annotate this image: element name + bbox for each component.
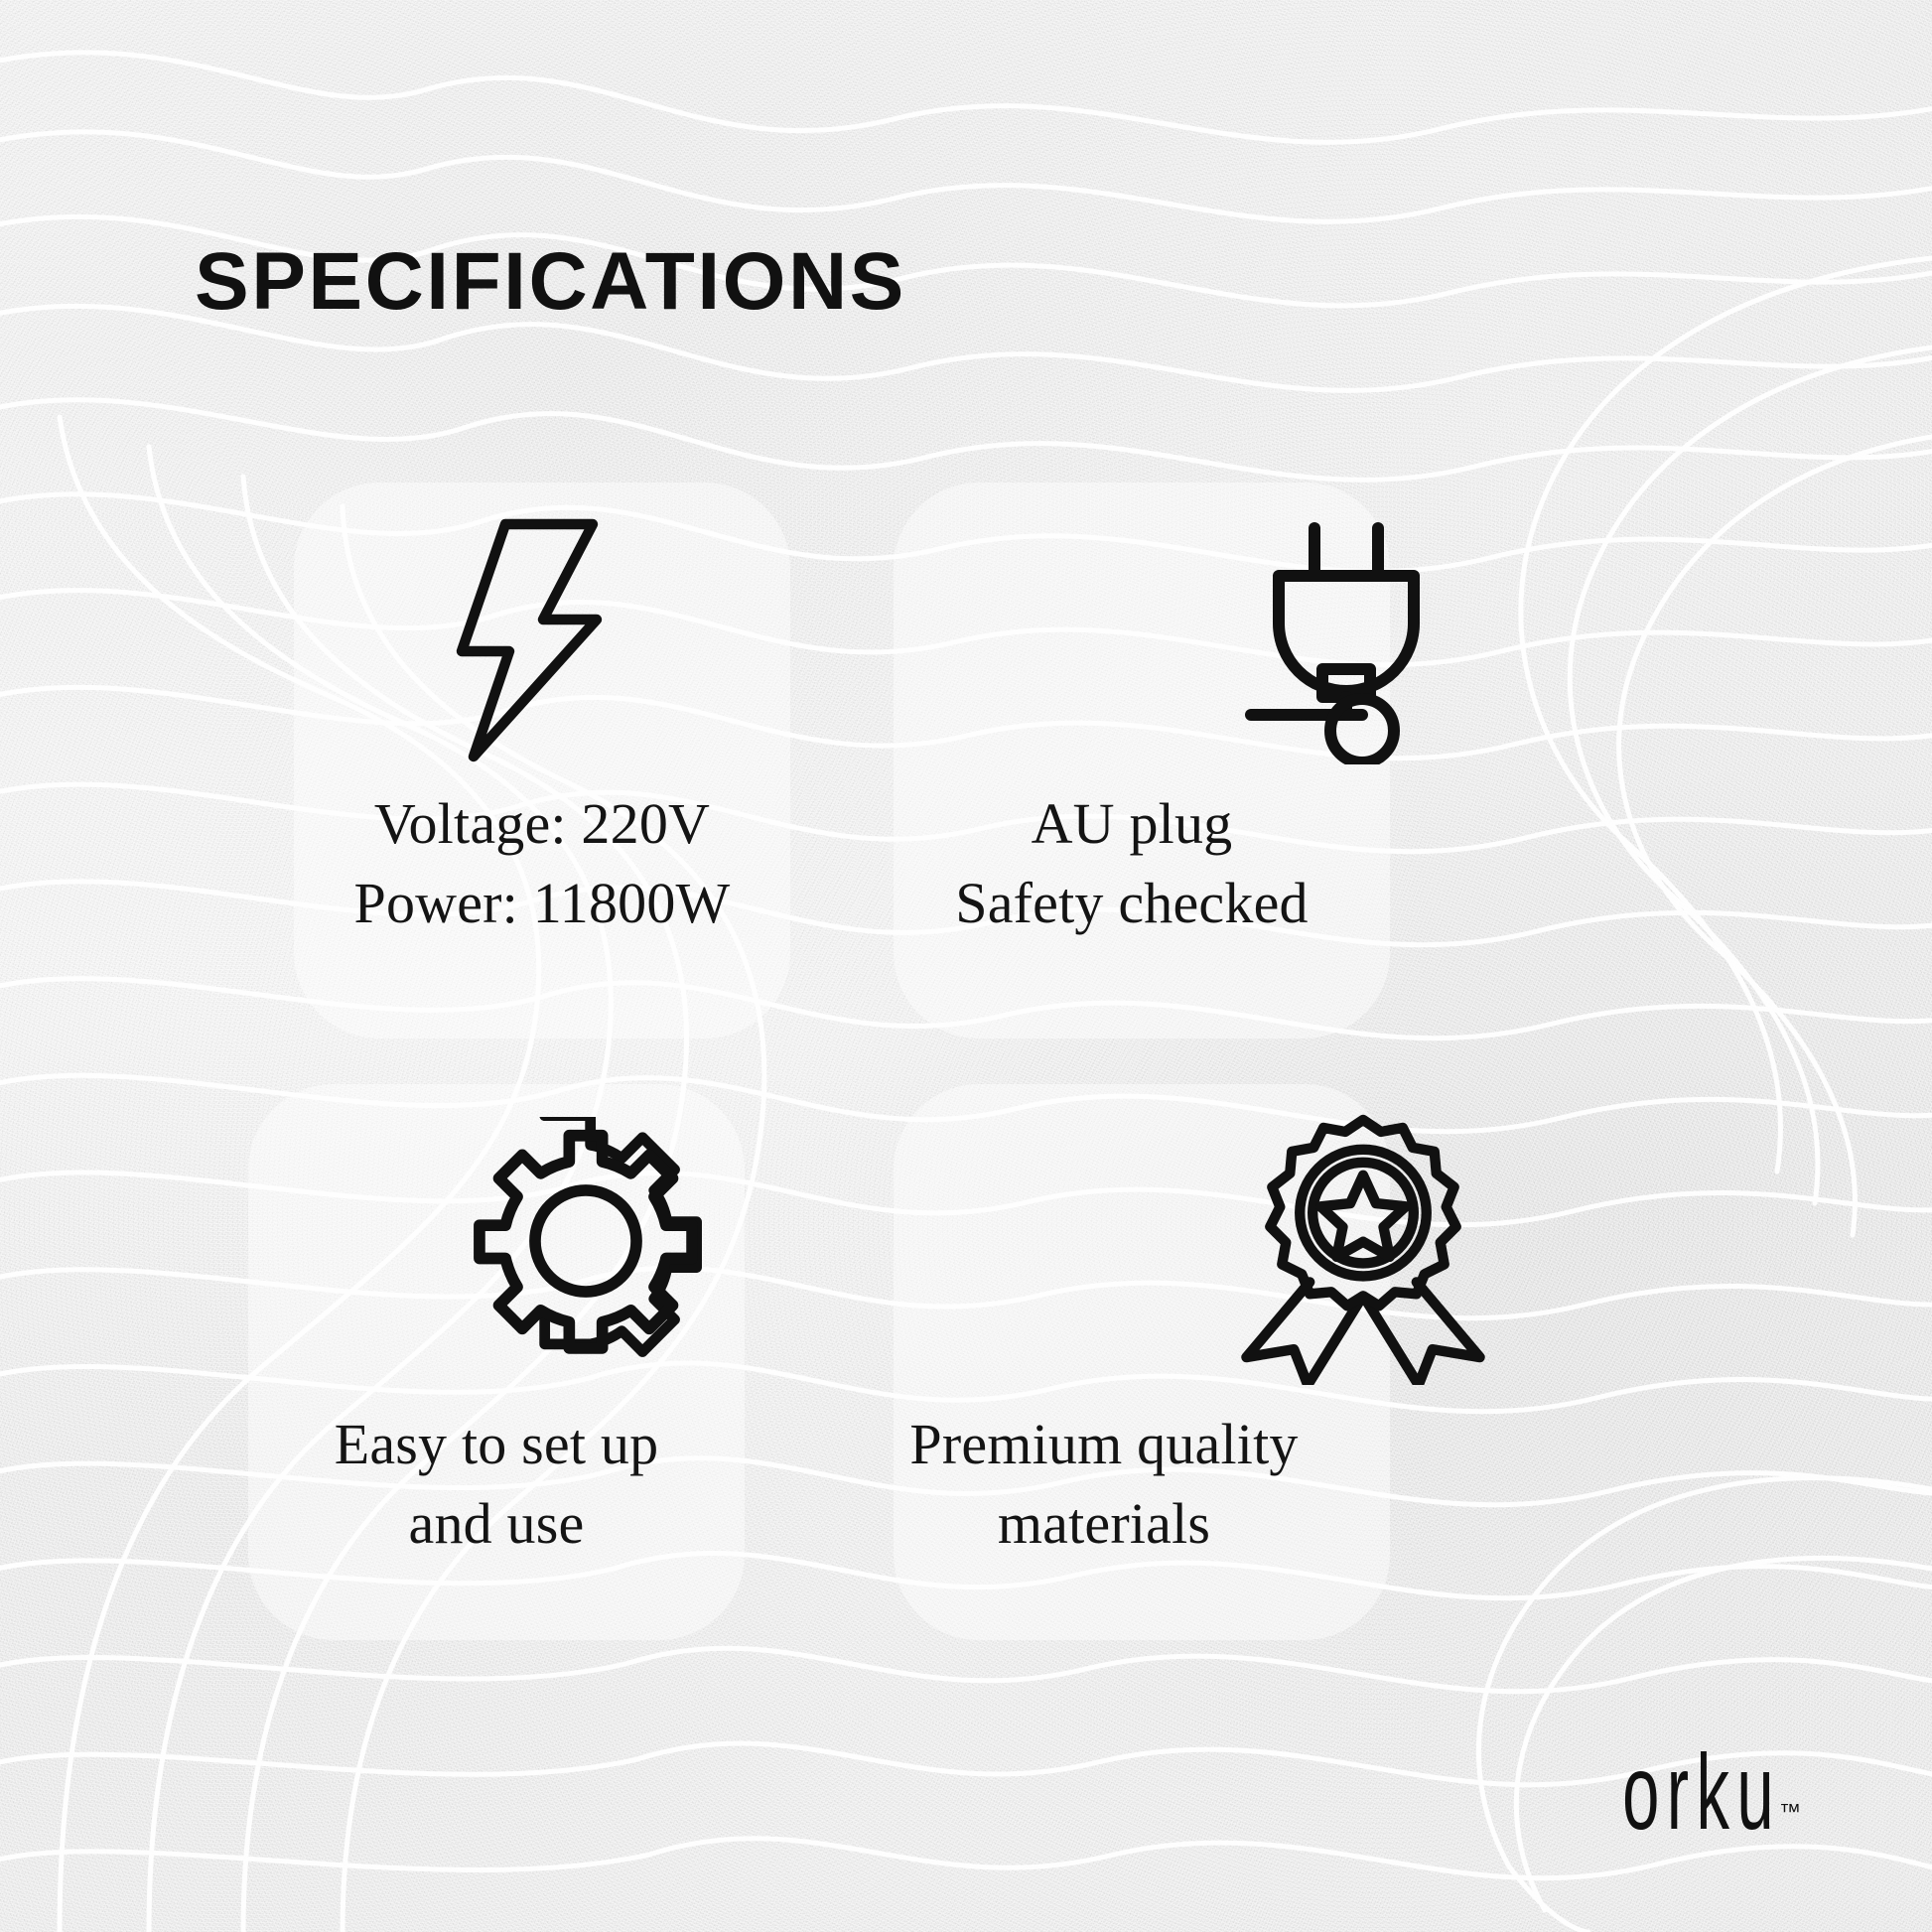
page-title: SPECIFICATIONS (195, 241, 906, 323)
spec-line-2: Safety checked (824, 864, 1440, 943)
spec-line-1: Easy to set up (335, 1412, 659, 1476)
spec-card-text-voltage-power: Voltage: 220V Power: 11800W (234, 784, 850, 943)
trademark-symbol: ™ (1779, 1799, 1801, 1825)
spec-card-text-plug-safety: AU plug Safety checked (824, 784, 1440, 943)
spec-line-1: Voltage: 220V (374, 791, 710, 856)
spec-card-text-easy-setup: Easy to set up and use (189, 1405, 804, 1564)
award-badge-icon (1234, 1112, 1492, 1385)
spec-line-2: materials (796, 1484, 1412, 1564)
gear-icon (462, 1117, 710, 1365)
spec-line-2: and use (189, 1484, 804, 1564)
spec-line-2: Power: 11800W (234, 864, 850, 943)
brand-logo: orku ™ (1525, 1742, 1801, 1841)
power-plug-icon (1239, 514, 1477, 764)
spec-line-1: AU plug (1032, 791, 1233, 856)
specifications-infographic: SPECIFICATIONS (0, 0, 1932, 1932)
lightning-bolt-icon (434, 516, 632, 764)
spec-line-1: Premium quality (909, 1412, 1298, 1476)
spec-card-text-premium-materials: Premium quality materials (796, 1405, 1412, 1564)
brand-logo-wordmark: orku (1622, 1742, 1781, 1841)
